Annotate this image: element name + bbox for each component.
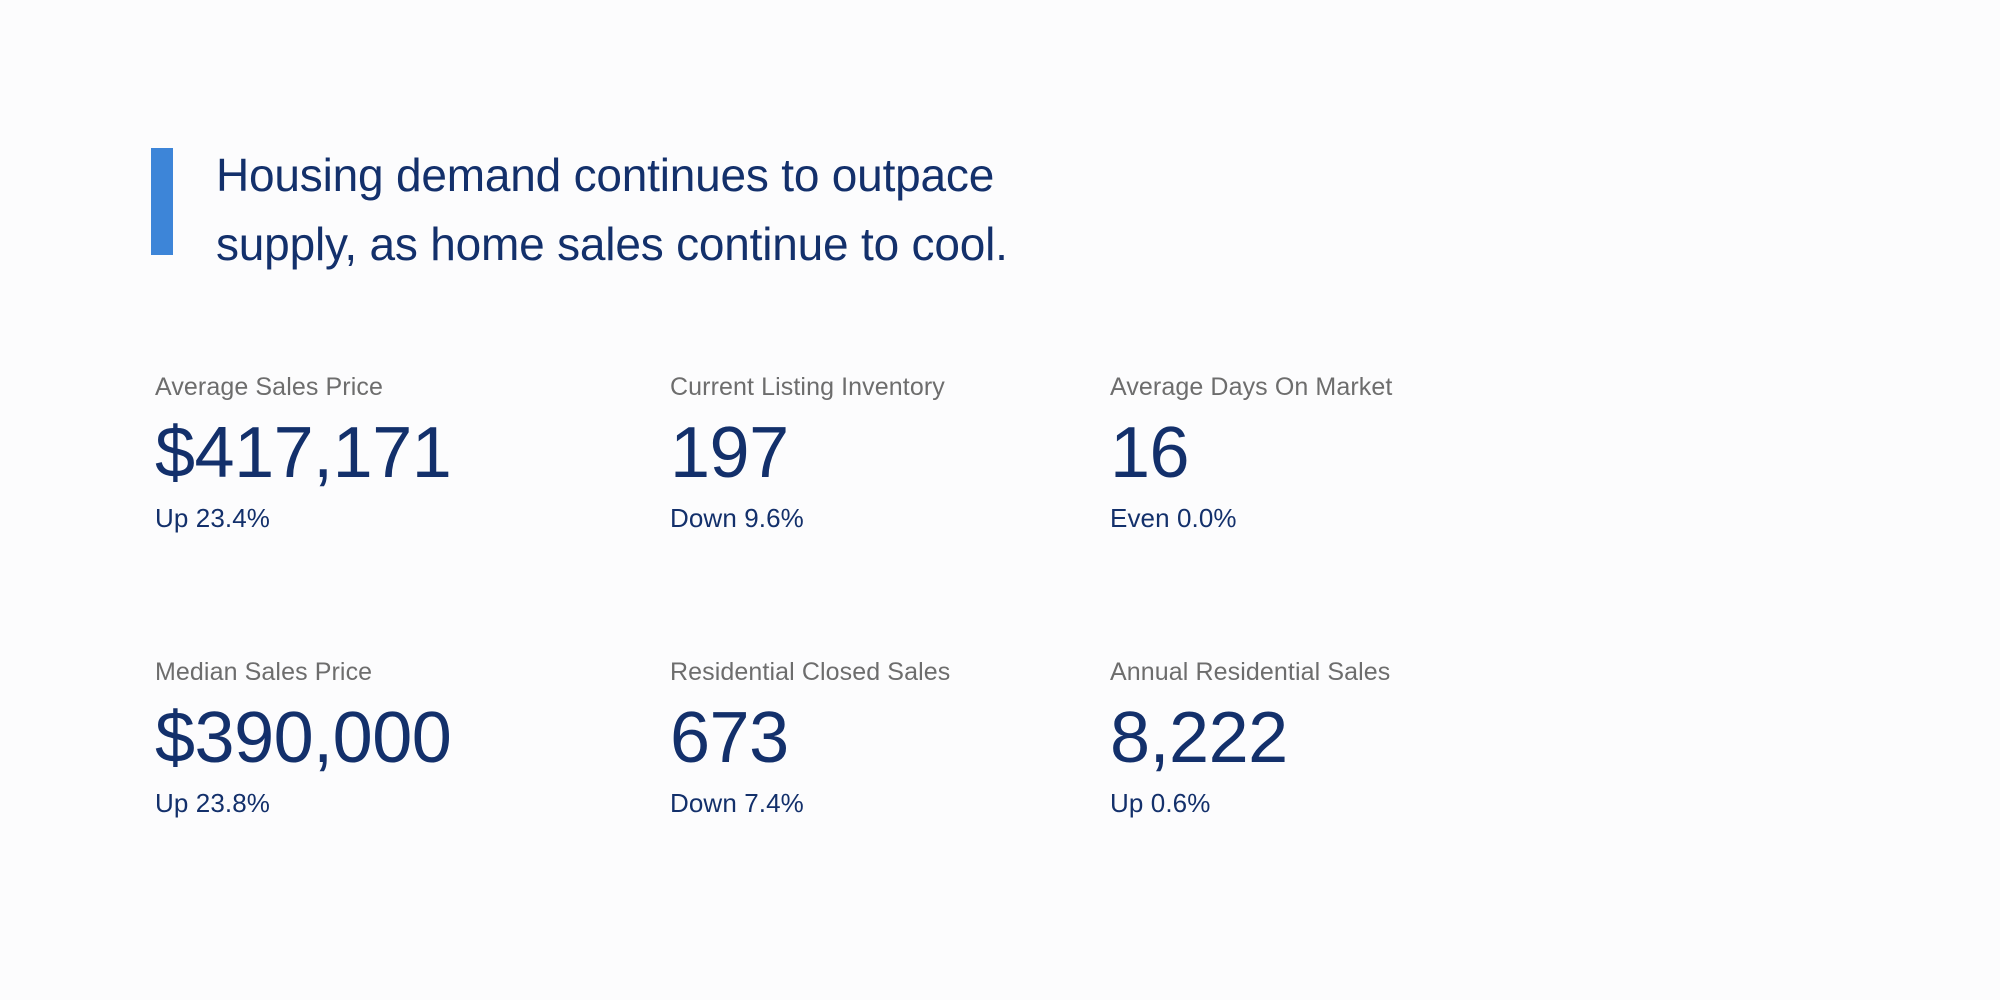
stat-value: 673	[670, 695, 1110, 781]
headline-block: Housing demand continues to outpace supp…	[151, 141, 1008, 279]
stat-change: Even 0.0%	[1110, 502, 1550, 534]
stat-card-current-listing-inventory: Current Listing Inventory 197 Down 9.6%	[670, 372, 1110, 657]
stat-value: 16	[1110, 410, 1550, 496]
stat-card-average-sales-price: Average Sales Price $417,171 Up 23.4%	[155, 372, 670, 657]
stat-value: $390,000	[155, 695, 670, 781]
stat-change: Up 23.4%	[155, 502, 670, 534]
page-title: Housing demand continues to outpace supp…	[216, 141, 1008, 279]
stat-label: Average Sales Price	[155, 372, 670, 402]
housing-stats-page: Housing demand continues to outpace supp…	[0, 0, 2000, 1000]
stat-label: Residential Closed Sales	[670, 657, 1110, 687]
stat-card-annual-residential-sales: Annual Residential Sales 8,222 Up 0.6%	[1110, 657, 1550, 942]
stat-change: Up 23.8%	[155, 787, 670, 819]
stat-label: Annual Residential Sales	[1110, 657, 1550, 687]
stat-change: Up 0.6%	[1110, 787, 1550, 819]
stat-card-median-sales-price: Median Sales Price $390,000 Up 23.8%	[155, 657, 670, 942]
stat-label: Median Sales Price	[155, 657, 670, 687]
accent-bar	[151, 148, 173, 255]
stat-value: 8,222	[1110, 695, 1550, 781]
stat-value: $417,171	[155, 410, 670, 496]
stat-label: Average Days On Market	[1110, 372, 1550, 402]
stat-value: 197	[670, 410, 1110, 496]
stat-change: Down 9.6%	[670, 502, 1110, 534]
stat-card-residential-closed-sales: Residential Closed Sales 673 Down 7.4%	[670, 657, 1110, 942]
stat-label: Current Listing Inventory	[670, 372, 1110, 402]
stats-grid: Average Sales Price $417,171 Up 23.4% Cu…	[155, 372, 1755, 942]
stat-card-average-days-on-market: Average Days On Market 16 Even 0.0%	[1110, 372, 1550, 657]
stat-change: Down 7.4%	[670, 787, 1110, 819]
